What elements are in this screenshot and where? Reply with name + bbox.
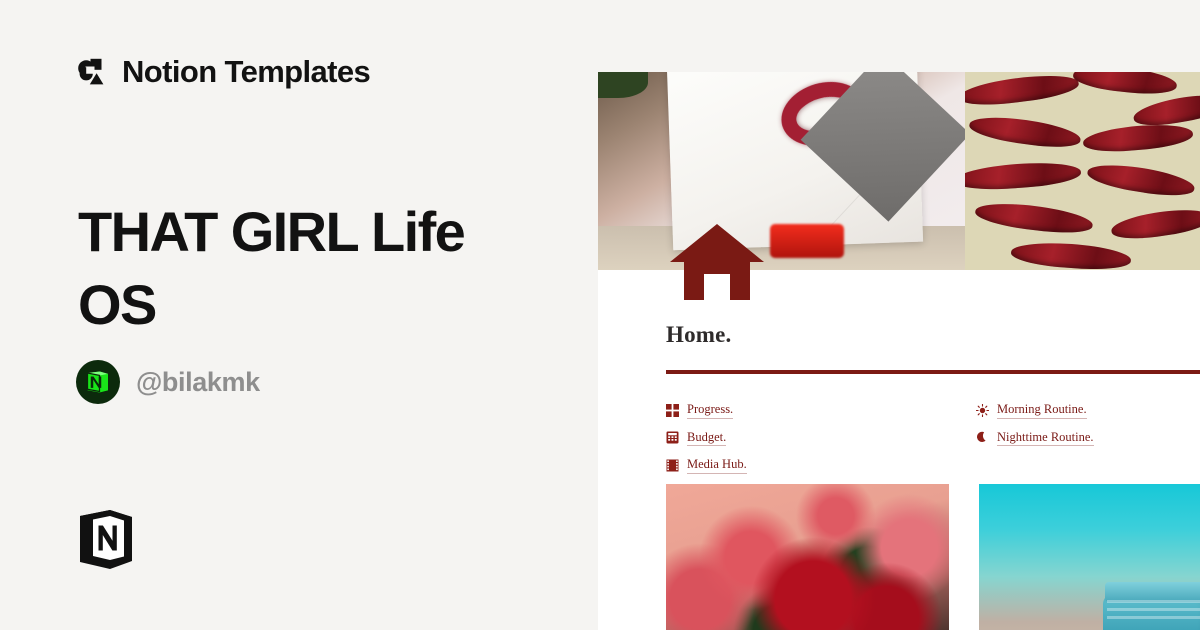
share-card: Notion Templates THAT GIRL Life OS @bila… <box>0 0 1200 630</box>
right-link-column: Morning Routine. Nighttime Routine. <box>976 402 1094 485</box>
calculator-icon <box>666 431 679 444</box>
page-title: THAT GIRL Life OS <box>78 196 548 342</box>
link-columns: Progress. <box>666 402 1132 485</box>
brand: Notion Templates <box>78 56 370 87</box>
link-label: Media Hub. <box>687 457 747 474</box>
link-morning-routine[interactable]: Morning Routine. <box>976 402 1094 419</box>
roses-photo[interactable] <box>666 484 949 630</box>
shapes-icon <box>78 57 108 87</box>
link-label: Nighttime Routine. <box>997 430 1094 447</box>
preview-panel: Home. <box>598 0 1200 630</box>
author[interactable]: @bilakmk <box>76 360 260 404</box>
link-label: Progress. <box>687 402 733 419</box>
notion-page-title: Home. <box>666 322 1132 348</box>
notion-page: Home. <box>598 72 1200 630</box>
left-link-column: Progress. <box>666 402 976 485</box>
cover-image-lipmarks <box>965 72 1200 270</box>
grid-squares-icon <box>666 404 679 417</box>
link-budget[interactable]: Budget. <box>666 430 976 447</box>
link-media-hub[interactable]: Media Hub. <box>666 457 976 474</box>
film-strip-icon <box>666 459 679 472</box>
house-icon <box>668 222 766 302</box>
moon-icon <box>976 431 989 444</box>
link-nighttime-routine[interactable]: Nighttime Routine. <box>976 430 1094 447</box>
left-panel: Notion Templates THAT GIRL Life OS @bila… <box>0 0 598 630</box>
author-handle: @bilakmk <box>136 367 260 398</box>
avatar <box>76 360 120 404</box>
notion-logo-icon <box>76 506 136 570</box>
brand-title: Notion Templates <box>122 56 370 87</box>
jar-sky-photo[interactable] <box>979 484 1200 630</box>
link-progress[interactable]: Progress. <box>666 402 976 419</box>
image-cards <box>666 484 1200 630</box>
sun-icon <box>976 404 989 417</box>
link-label: Morning Routine. <box>997 402 1087 419</box>
divider <box>666 370 1200 374</box>
link-label: Budget. <box>687 430 726 447</box>
cover-image-envelope <box>598 72 965 270</box>
